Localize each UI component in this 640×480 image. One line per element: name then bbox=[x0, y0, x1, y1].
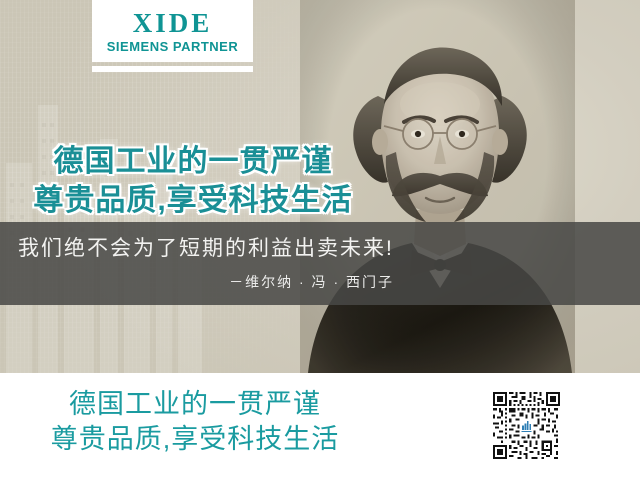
hero-section: XIDE SIEMENS PARTNER 德国工业的一贯严谨 尊贵品质,享受科技… bbox=[0, 0, 640, 373]
qr-code[interactable] bbox=[493, 392, 560, 459]
headline-line-1: 德国工业的一贯严谨 bbox=[18, 142, 368, 181]
logo-underbar bbox=[92, 66, 253, 72]
footer-line-2: 尊贵品质,享受科技生活 bbox=[20, 422, 370, 457]
headline-line-2: 尊贵品质,享受科技生活 bbox=[18, 181, 368, 220]
logo-tagline: SIEMENS PARTNER bbox=[107, 40, 239, 53]
xide-logo: XIDE SIEMENS PARTNER bbox=[92, 0, 253, 62]
logo-name: XIDE bbox=[133, 10, 213, 37]
quote-author: －维尔纳 · 冯 · 西门子 bbox=[0, 272, 394, 292]
footer-line-1: 德国工业的一贯严谨 bbox=[20, 387, 370, 422]
quote-band: 我们绝不会为了短期的利益出卖未来! －维尔纳 · 冯 · 西门子 bbox=[0, 222, 640, 305]
headline: 德国工业的一贯严谨 尊贵品质,享受科技生活 bbox=[18, 142, 368, 220]
footer-slogan: 德国工业的一贯严谨 尊贵品质,享受科技生活 bbox=[20, 387, 370, 457]
poster-canvas: XIDE SIEMENS PARTNER 德国工业的一贯严谨 尊贵品质,享受科技… bbox=[0, 0, 640, 480]
quote-text: 我们绝不会为了短期的利益出卖未来! bbox=[18, 235, 394, 263]
